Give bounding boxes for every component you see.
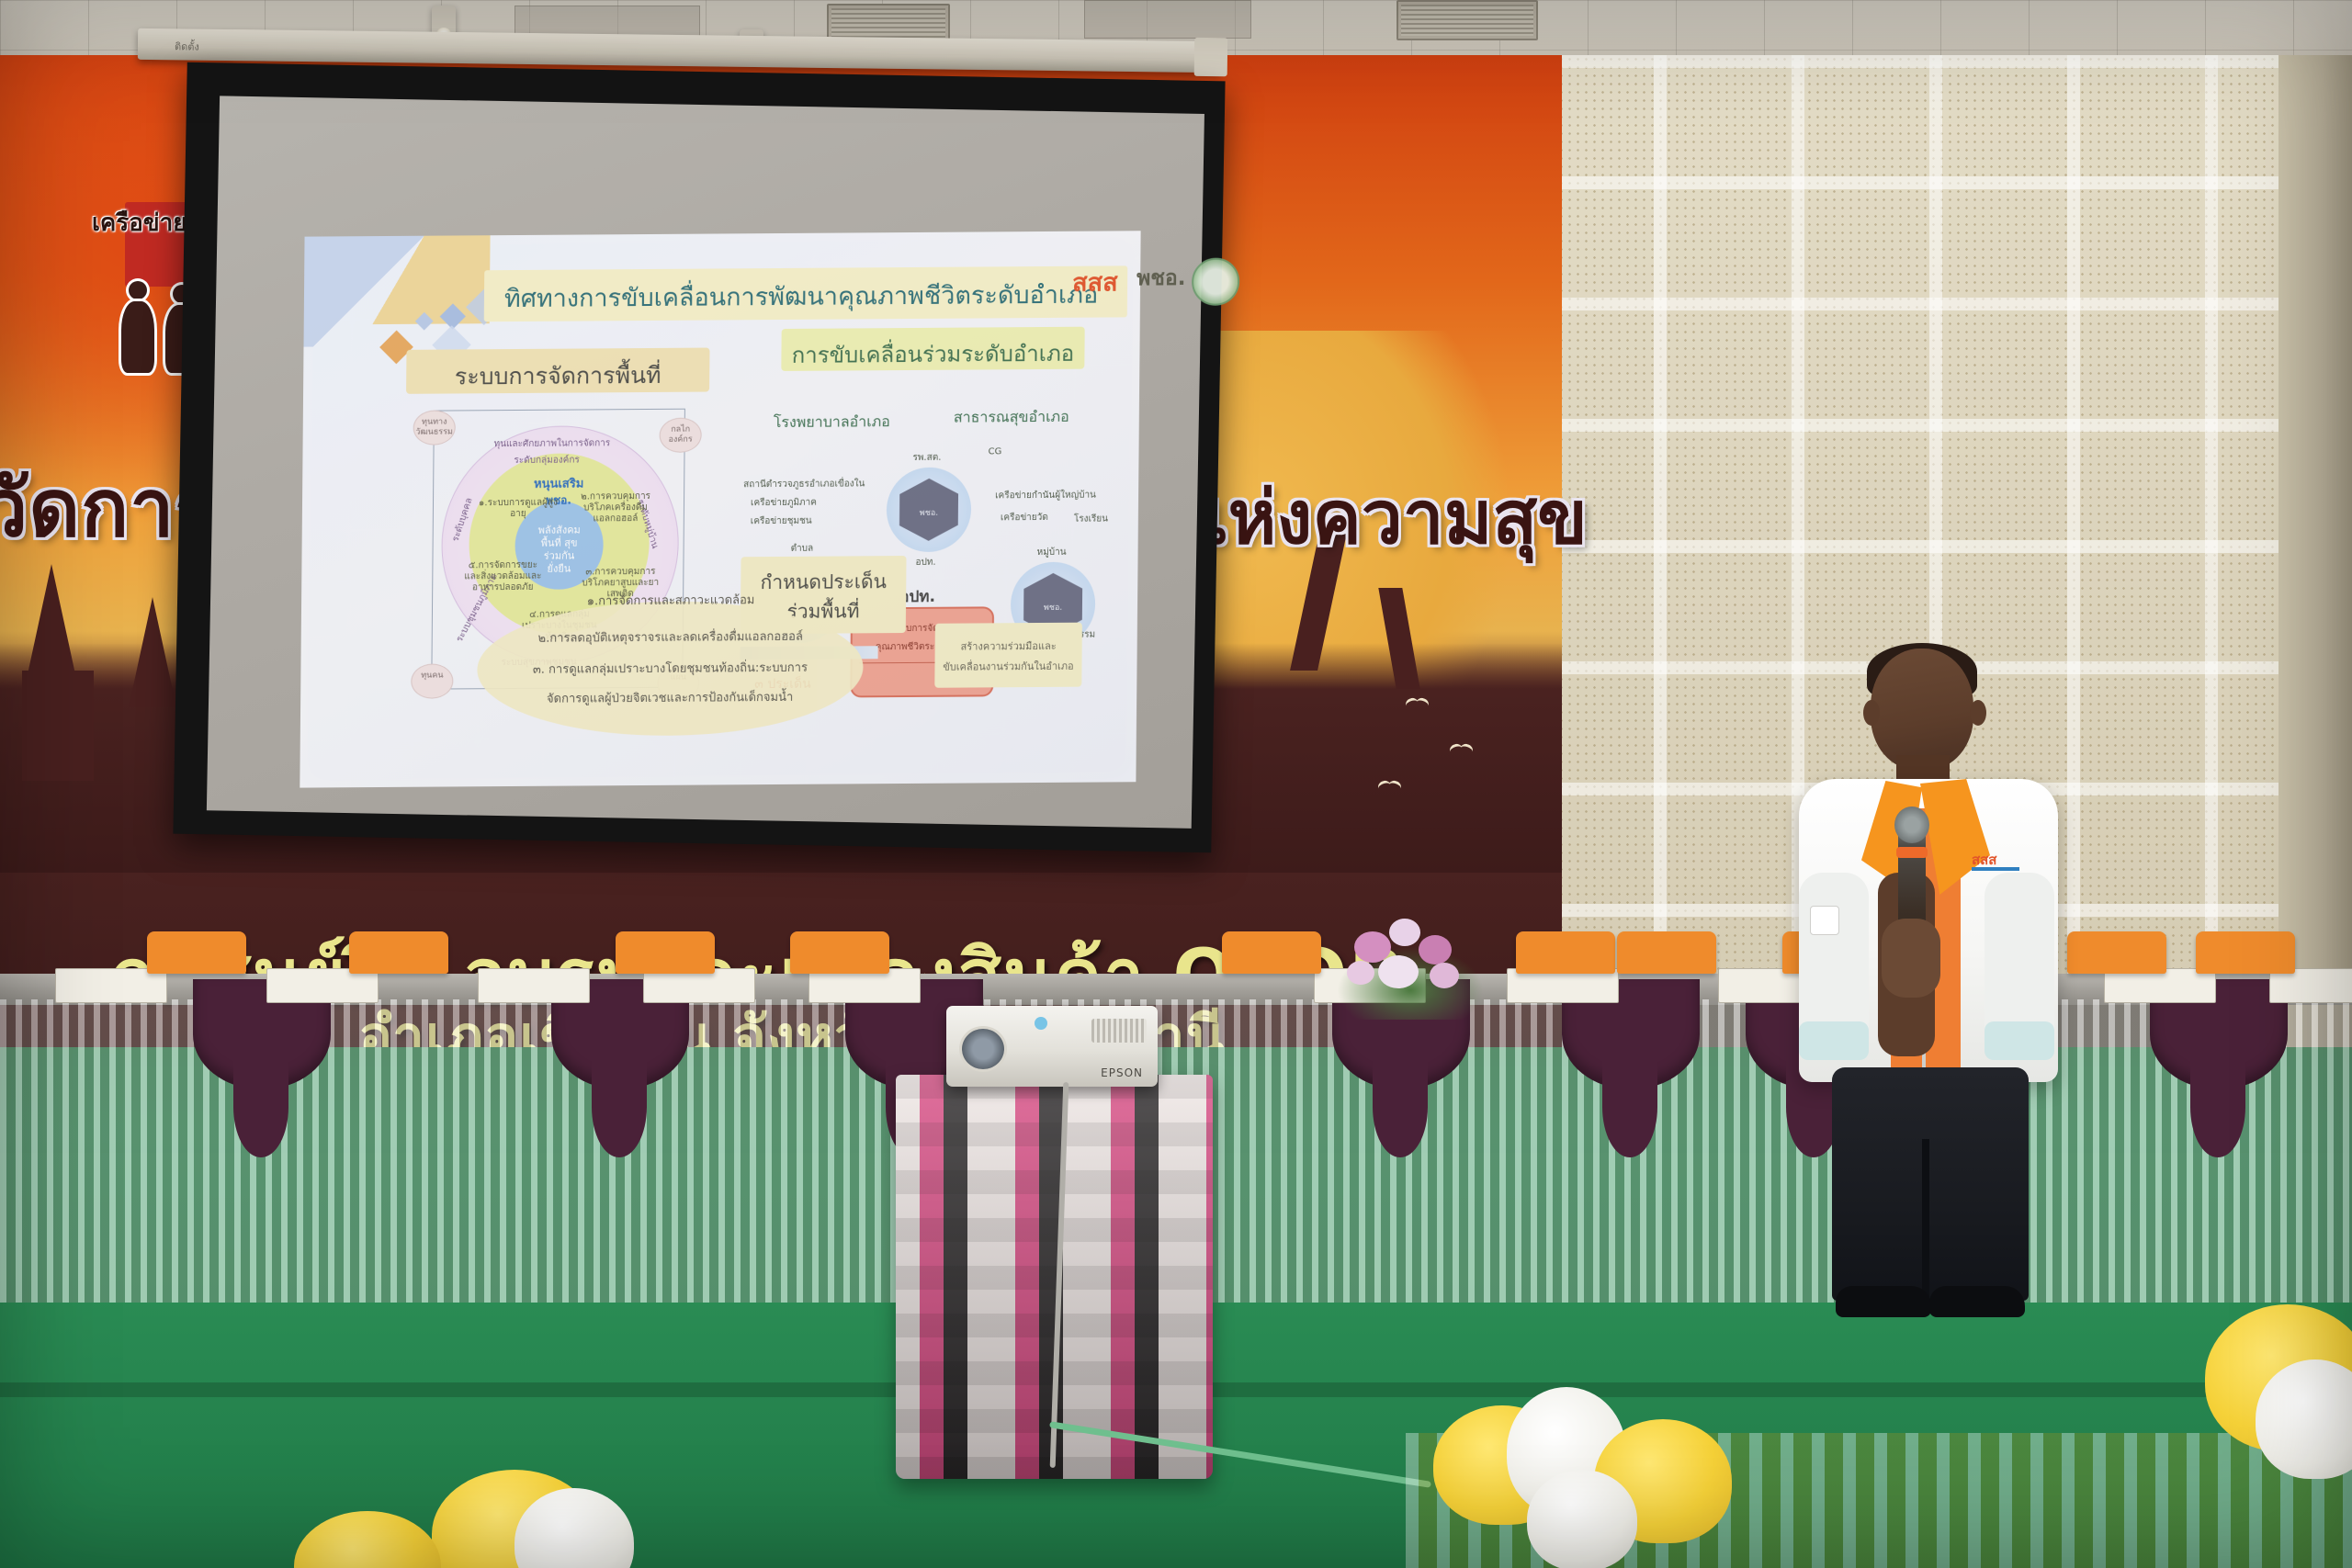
hand <box>1882 919 1940 998</box>
ring-segment-4: ๕.การจัดการขยะและสิ่งแวดล้อมและอาหารปลอด… <box>463 560 542 594</box>
sleeve-badge <box>1810 906 1839 935</box>
right-panel-heading: การขับเคลื่อนร่วมระดับอำเภอ <box>781 327 1084 371</box>
slide-title-text: ทิศทางการขับเคลื่อนการพัฒนาคุณภาพชีวิตระ… <box>504 275 1099 319</box>
photo-scene: เครือข่าย ชุมชน วัดการ แห่งความสุข ณ ศูน… <box>0 0 2352 1568</box>
ring-segment-0: ๑.ระบบการดูแลผู้สูงอายุ <box>479 498 558 521</box>
chest-logo-bar <box>1972 867 2019 871</box>
chair-back <box>1516 931 1615 974</box>
bird-silhouette <box>1450 744 1474 755</box>
trouser-seam <box>1922 1139 1929 1304</box>
partner-logo: พชอ. <box>1136 262 1193 308</box>
rail-end-cap <box>1194 38 1228 76</box>
collaboration-note-box: สร้างความร่วมมือและ ขับเคลื่อนงานร่วมกัน… <box>934 623 1082 688</box>
oval-line-0: ๑.การจัดการและสภาวะแวดล้อม <box>478 589 864 611</box>
cuff-left <box>1799 1021 1869 1060</box>
nameplate <box>478 968 590 1003</box>
wall-column <box>2278 55 2352 1066</box>
ear <box>1970 700 1986 726</box>
side-note-4: เครือข่ายวัด <box>1001 511 1048 525</box>
hex-node-center: พชอ. <box>887 468 972 553</box>
node-label-4: หมู่บ้าน <box>1037 546 1067 559</box>
chair-back <box>2196 931 2295 974</box>
side-note-0: สถานีตำรวจภูธรอำเภอเขื่องใน <box>743 477 865 491</box>
node-label-2: อปท. <box>915 556 935 570</box>
temple-spire <box>28 564 75 674</box>
shoe-left <box>1836 1286 1931 1317</box>
ruffle-decoration <box>1527 1470 1637 1568</box>
chair-back <box>349 931 448 974</box>
projector-lens-icon <box>959 1026 1007 1072</box>
projector-power-button[interactable] <box>1035 1017 1047 1030</box>
collab-line-0: สร้างความร่วมมือและ <box>935 637 1082 655</box>
collab-line-1: ขับเคลื่อนงานร่วมกันในอำเภอ <box>934 658 1081 675</box>
chair-back <box>616 931 715 974</box>
slide-title-band: ทิศทางการขับเคลื่อนการพัฒนาคุณภาพชีวิตระ… <box>484 265 1128 321</box>
flower <box>1419 935 1452 964</box>
trousers <box>1832 1067 2029 1301</box>
microphone-band <box>1896 847 1928 858</box>
projected-slide: ทิศทางการขับเคลื่อนการพัฒนาคุณภาพชีวิตระ… <box>300 231 1140 787</box>
flower-arrangement <box>1341 919 1479 1029</box>
projection-screen: ทิศทางการขับเคลื่อนการพัฒนาคุณภาพชีวิตระ… <box>173 62 1225 853</box>
arc-label-1: ระดับกลุ่มองค์กร <box>514 454 580 468</box>
speaker-person: สสส <box>1782 643 2086 1286</box>
projector-vent <box>1091 1019 1147 1043</box>
right-panel-heading-text: การขับเคลื่อนร่วมระดับอำเภอ <box>781 335 1084 373</box>
corner-node-1: กลไกองค์กร <box>660 418 702 453</box>
ceiling-vent <box>1396 0 1538 40</box>
side-note-2: เครือข่ายชุมชน <box>751 514 812 528</box>
side-note-5: โรงเรียน <box>1074 512 1108 525</box>
rail-label: ติดตั้ง <box>175 38 199 54</box>
chair-back <box>147 931 246 974</box>
left-panel-heading: ระบบการจัดการพื้นที่ <box>406 348 709 394</box>
chair-back <box>1222 931 1321 974</box>
side-note-1: เครือข่ายภูมิภาค <box>751 496 817 511</box>
bird-silhouette <box>1378 781 1402 792</box>
oval-line-2: ๓. การดูแลกลุ่มเปราะบางโดยชุมชนท้องถิ่น:… <box>477 657 863 679</box>
chair-back <box>1617 931 1716 974</box>
flower <box>1430 963 1459 988</box>
screen-surface: ทิศทางการขับเคลื่อนการพัฒนาคุณภาพชีวิตระ… <box>207 96 1204 829</box>
chest-logo: สสส <box>1972 843 2019 871</box>
ear <box>1863 700 1880 726</box>
oval-line-3: จัดการดูแลผู้ป่วยจิตเวชและการป้องกันเด็ก… <box>477 686 863 708</box>
hex-shape: พชอ. <box>899 479 959 541</box>
ring-segment-1: ๒.การควบคุมการบริโภคเครื่องดื่มแอลกอฮอล์ <box>576 491 655 525</box>
node-label-3: ตำบล <box>791 542 814 556</box>
node-label-1: CG <box>988 446 1001 457</box>
chair-back <box>790 931 889 974</box>
head <box>1871 649 1973 770</box>
projector[interactable]: EPSON <box>946 1006 1158 1087</box>
oval-line-1: ๒.การลดอุบัติเหตุจราจรและลดเครื่องดื่มแอ… <box>478 626 864 648</box>
leader-label-0: โรงพยาบาลอำเภอ <box>774 411 890 434</box>
cuff-right <box>1984 1021 2054 1060</box>
shoe-right <box>1929 1286 2025 1317</box>
flower <box>1378 955 1419 988</box>
side-note-3: เครือข่ายกำนันผู้ใหญ่บ้าน <box>995 489 1096 503</box>
left-panel-heading-text: ระบบการจัดการพื้นที่ <box>406 357 709 396</box>
arc-label-0: ทุนและศักยภาพในการจัดการ <box>494 436 611 451</box>
corner-node-2: ทุนคน <box>411 663 453 698</box>
leader-label-1: สาธารณสุขอำเภอ <box>954 406 1069 430</box>
banner-word-right: แห่งความสุข <box>1181 459 1588 576</box>
sss-logo: สสส <box>1072 262 1129 308</box>
ring-highlight: หนุนเสริม <box>508 473 609 493</box>
ceiling-panel <box>1084 0 1251 39</box>
bird-silhouette <box>1406 698 1430 709</box>
projector-brand-label: EPSON <box>1101 1066 1143 1079</box>
node-label-0: รพ.สต. <box>912 451 941 465</box>
microphone-head-icon <box>1894 807 1929 843</box>
temple-spire <box>129 597 176 707</box>
flower <box>1347 961 1374 985</box>
flower <box>1389 919 1420 946</box>
temple-body <box>22 671 94 781</box>
